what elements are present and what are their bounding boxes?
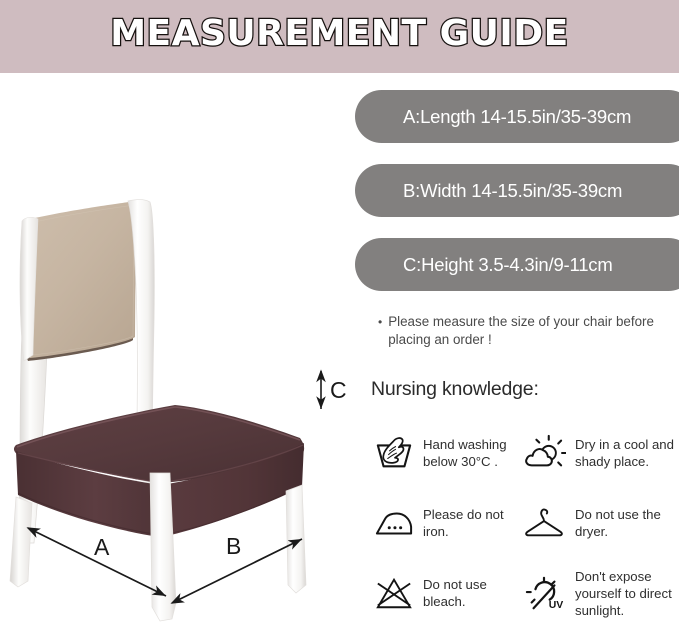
care-item-dry-shade-label: Dry in a cool and shady place.: [567, 436, 679, 470]
care-item-no-iron-label: Please do not iron.: [417, 506, 521, 540]
care-instructions-grid: Hand washing below 30°C . Dry in a co: [371, 418, 679, 625]
measure-note-text: Please measure the size of your chair be…: [388, 313, 673, 349]
care-item-hand-wash-label: Hand washing below 30°C .: [417, 436, 521, 470]
chair-leg-left-front: [10, 497, 32, 587]
care-item-no-iron: Please do not iron.: [371, 488, 521, 558]
measurement-pill-width-label: B:Width 14-15.5in/35-39cm: [355, 180, 622, 202]
care-item-no-sunlight: UV Don't expose yourself to direct sunli…: [521, 558, 679, 625]
no-bleach-triangle-icon: [371, 572, 417, 614]
bullet-icon: •: [378, 313, 382, 331]
care-item-no-sunlight-label: Don't expose yourself to direct sunlight…: [567, 568, 679, 619]
iron-crossed-icon: [371, 502, 417, 544]
dimension-label-a: A: [94, 534, 109, 561]
care-item-hand-wash: Hand washing below 30°C .: [371, 418, 521, 488]
svg-text:UV: UV: [549, 600, 564, 611]
no-uv-sun-icon: UV: [521, 572, 567, 614]
header-banner: MEASUREMENT GUIDE: [0, 0, 679, 73]
measurement-pill-height[interactable]: C:Height 3.5-4.3in/9-11cm: [355, 238, 679, 291]
measurement-pill-length-label: A:Length 14-15.5in/35-39cm: [355, 106, 631, 128]
measurement-guide-page: MEASUREMENT GUIDE: [0, 0, 679, 625]
measurement-pill-height-label: C:Height 3.5-4.3in/9-11cm: [355, 254, 613, 276]
chair-leg-right: [286, 485, 306, 593]
chair-illustration: [0, 73, 360, 625]
sun-behind-cloud-icon: [521, 432, 567, 474]
care-item-no-bleach-label: Do not use bleach.: [417, 576, 521, 610]
care-item-no-bleach: Do not use bleach.: [371, 558, 521, 625]
clothes-hanger-icon: [521, 502, 567, 544]
care-item-no-dryer: Do not use the dryer.: [521, 488, 679, 558]
chair-backrest-fabric: [21, 201, 136, 361]
measurement-pill-length[interactable]: A:Length 14-15.5in/35-39cm: [355, 90, 679, 143]
nursing-knowledge-heading: Nursing knowledge:: [371, 378, 539, 401]
hand-wash-basin-icon: [371, 432, 417, 474]
measure-note: • Please measure the size of your chair …: [378, 313, 673, 349]
dimension-label-c: C: [330, 377, 347, 404]
care-item-no-dryer-label: Do not use the dryer.: [567, 506, 679, 540]
page-title: MEASUREMENT GUIDE: [0, 13, 679, 54]
measurement-pill-width[interactable]: B:Width 14-15.5in/35-39cm: [355, 164, 679, 217]
dimension-label-b: B: [226, 533, 241, 560]
care-item-dry-shade: Dry in a cool and shady place.: [521, 418, 679, 488]
